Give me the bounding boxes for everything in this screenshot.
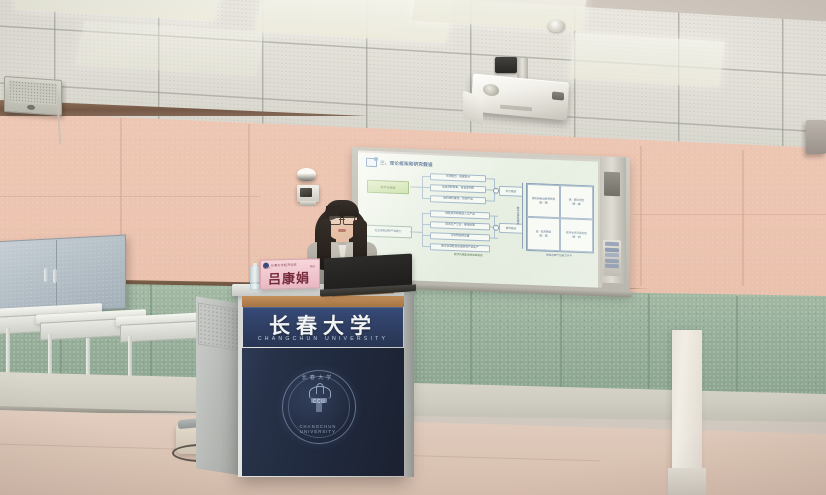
cabinet-handle[interactable] bbox=[53, 269, 57, 283]
emblem-arc-bottom-text: CHANGCHUN UNIVERSITY bbox=[284, 424, 352, 434]
podium-right-side bbox=[404, 292, 414, 477]
wall-speaker-left bbox=[4, 76, 62, 116]
podium-wood-band bbox=[242, 296, 404, 307]
torch-flame-inner bbox=[316, 383, 324, 394]
slide-node: 资源整合、配置能力 bbox=[430, 173, 486, 182]
quadrant-code: （高 · 低） bbox=[570, 235, 583, 239]
projector-vent bbox=[552, 91, 564, 100]
matrix-quadrant: 高 · 高协同型 （高 · 高） bbox=[560, 185, 593, 219]
wainscot-seam bbox=[560, 292, 562, 397]
slide-connector bbox=[410, 186, 422, 187]
slide-connector bbox=[422, 187, 430, 188]
lecture-hall-photo: 三、理论框架和研究假设 数字化转型 资源整合、配置能力 信息获取效率、信息透明度… bbox=[0, 0, 826, 495]
podium-speaker-grille bbox=[198, 303, 242, 352]
podium-university-name-en: CHANGCHUN UNIVERSITY bbox=[243, 336, 403, 342]
speaker-grille bbox=[9, 80, 57, 105]
matrix-quadrant: 低 · 低滞后型 （低 · 低） bbox=[527, 217, 560, 251]
wall-seam bbox=[248, 124, 250, 284]
slide-connector bbox=[422, 224, 430, 225]
control-panel-display bbox=[604, 172, 620, 197]
projector-pole bbox=[517, 58, 528, 80]
wainscot-seam bbox=[470, 290, 472, 397]
wall-seam bbox=[634, 214, 826, 215]
matrix-y-axis bbox=[522, 183, 523, 249]
slide-node: 绿色技术研发投入与产出 bbox=[430, 210, 490, 219]
pillar-base bbox=[668, 468, 706, 495]
camera-lens-icon bbox=[300, 188, 312, 197]
cabinet-texture bbox=[0, 238, 123, 313]
slide-connector bbox=[486, 178, 494, 179]
presenter-mouth bbox=[338, 229, 346, 232]
quadrant-code: （高 · 高） bbox=[570, 202, 583, 206]
quadrant-code: （低 · 低） bbox=[537, 234, 550, 238]
ceiling-light-panel bbox=[569, 33, 725, 88]
wainscot-seam bbox=[736, 296, 738, 397]
control-panel-buttons[interactable] bbox=[603, 240, 621, 277]
matrix-quadrant: 潜在绿色创新领先型 （低 · 高） bbox=[527, 184, 560, 218]
slide-connector bbox=[422, 235, 430, 236]
quadrant-code: （低 · 高） bbox=[537, 201, 550, 205]
slide-title-icon bbox=[366, 158, 377, 167]
slide-node: 清洁生产工艺、废物处理 bbox=[430, 221, 490, 230]
slide-footnote: 数字化赋能绿色创新路径 bbox=[454, 252, 483, 257]
speaker-port bbox=[27, 105, 35, 111]
matrix-quadrant: 数字化先导驱动型 （高 · 低） bbox=[560, 218, 593, 252]
cabinet-handle[interactable] bbox=[44, 268, 48, 282]
slide-node-highlight: 数字化转型 bbox=[367, 180, 409, 195]
matrix-y-axis-label: 数字化转型程度 bbox=[514, 192, 521, 238]
slide-title: 三、理论框架和研究假设 bbox=[380, 160, 433, 168]
emblem-arc-top-text: 长春大学 bbox=[289, 374, 347, 381]
slide-connector bbox=[422, 246, 430, 247]
emblem-monogram: CCU bbox=[306, 399, 332, 405]
slide-node: 污染物减排总量 bbox=[430, 232, 490, 241]
wall-speaker-right bbox=[806, 120, 826, 154]
water-bottle[interactable] bbox=[250, 266, 260, 290]
slide-connector bbox=[422, 198, 430, 199]
projector-mount-bracket bbox=[495, 57, 517, 73]
matrix-grid: 潜在绿色创新领先型 （低 · 高） 高 · 高协同型 （高 · 高） 低 · 低… bbox=[526, 183, 594, 254]
wainscot-seam bbox=[648, 294, 650, 397]
slide-connector bbox=[486, 200, 494, 201]
slide-connector bbox=[422, 213, 430, 214]
slide-connector bbox=[422, 176, 430, 177]
storage-cabinet[interactable] bbox=[0, 235, 126, 316]
slide-node: 组织结构柔性、协同产出 bbox=[430, 195, 486, 204]
slide-node: 数字化绿色供应链协同产品生产 bbox=[430, 243, 490, 252]
speaker-name: 吕康娟 bbox=[260, 267, 318, 288]
wall-seam bbox=[640, 146, 642, 286]
slide-node: 信息获取效率、信息透明度 bbox=[430, 184, 486, 193]
wall-seam bbox=[742, 150, 744, 286]
wall-seam bbox=[0, 196, 260, 197]
smoke-detector-icon bbox=[548, 20, 565, 32]
presenter-glasses-icon bbox=[329, 216, 355, 223]
slide-title-row: 三、理论框架和研究假设 bbox=[366, 158, 433, 170]
dome-camera-icon bbox=[297, 168, 316, 181]
slide-connector bbox=[422, 213, 423, 247]
